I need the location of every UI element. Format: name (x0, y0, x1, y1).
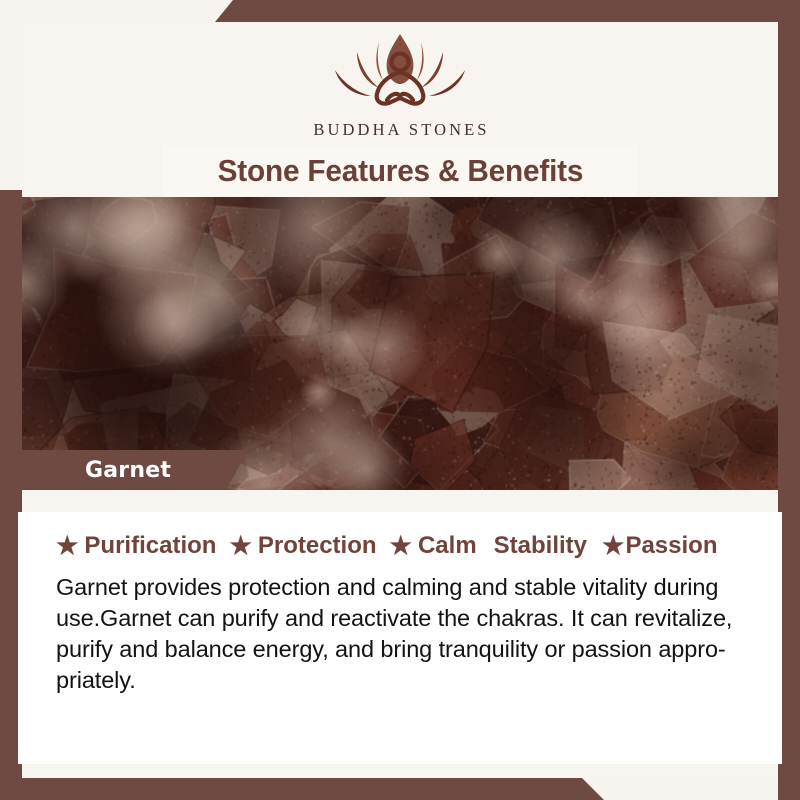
page-title: Stone Features & Benefits (217, 153, 583, 189)
benefit-passion: ★Passion (602, 532, 717, 560)
benefit-label: Protection (258, 532, 377, 560)
brand-name: BUDDHA STONES (0, 120, 800, 140)
benefit-label: Passion (625, 532, 717, 560)
star-icon: ★ (229, 534, 251, 559)
brand-logo: BUDDHA STONES (0, 22, 800, 140)
star-icon: ★ (602, 534, 624, 559)
benefit-label: Purification (84, 532, 216, 560)
content-card: ★Purification★Protection★CalmStability★P… (18, 512, 782, 764)
poster-root: BUDDHA STONES Stone Features & Benefits … (0, 0, 800, 800)
benefit-label: Calm (418, 532, 477, 560)
title-plate: Stone Features & Benefits (163, 145, 637, 197)
star-icon: ★ (390, 534, 412, 559)
stone-photo (0, 197, 800, 490)
benefit-stability: Stability (494, 532, 587, 560)
benefit-protection: ★Protection (229, 532, 376, 560)
benefit-label: Stability (494, 532, 587, 560)
benefit-calm: ★Calm (390, 532, 477, 560)
stone-name-ribbon: Garnet (18, 450, 248, 490)
benefit-purification: ★Purification (56, 532, 216, 560)
stone-name: Garnet (18, 458, 171, 483)
garnet-photo-canvas (0, 197, 800, 490)
lotus-meditation-icon (305, 22, 495, 118)
star-icon: ★ (56, 534, 78, 559)
benefits-row: ★Purification★Protection★CalmStability★P… (56, 532, 766, 560)
stone-description: Garnet provides protection and calming a… (56, 572, 768, 696)
